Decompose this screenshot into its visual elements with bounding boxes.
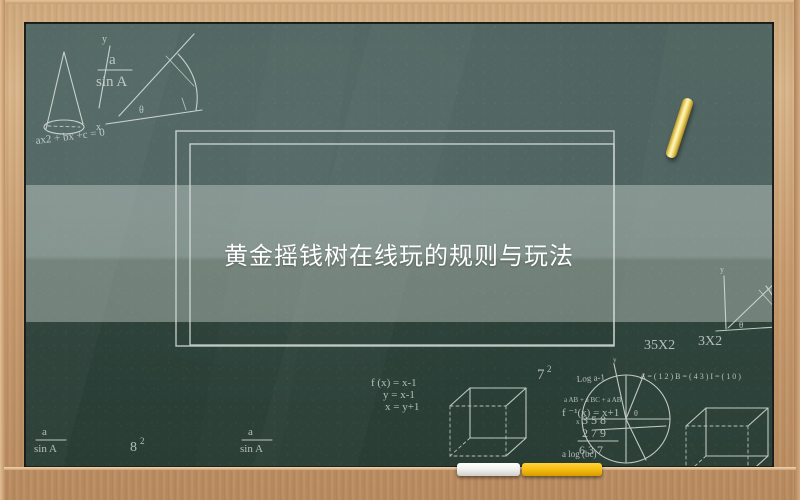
chalk-inverse-function: f ⁻¹(x) = x+1: [562, 407, 619, 419]
frame-left-edge: [0, 0, 5, 500]
chalk-circle-theta: θ: [634, 409, 638, 418]
chalk-log-bc: a log (bc): [562, 449, 596, 459]
chalk-axis-y-label-left: y: [102, 34, 107, 45]
chalk-circle-x-label: x: [576, 418, 580, 426]
chalk-mult-35x2: 35X2: [644, 338, 675, 353]
fraction-a-over-sina-bottomleft-1: a sin A: [34, 426, 66, 455]
chalk-7-exponent: 2: [547, 364, 552, 374]
chalk-tray: [0, 466, 800, 500]
chalk-fn-2: y = x-1: [383, 389, 415, 401]
yellow-chalk-icon: [522, 463, 602, 476]
white-chalk-icon: [457, 463, 520, 476]
chalk-subtrahend: 2 7 9: [582, 426, 606, 440]
function-notes-bottomleft: f (x) = x-1 y = x-1 x = y+1: [371, 377, 419, 413]
chalk-theta-left: θ: [139, 105, 144, 116]
eight-squared: 8 2: [130, 436, 145, 455]
seven-squared: 7 2: [537, 364, 552, 383]
circle-diagram: y x θ: [576, 356, 670, 463]
chalk-a-numerator: a: [109, 52, 116, 68]
chalk-sina-denominator: sin A: [96, 74, 127, 90]
chalk-fn-1: f (x) = x-1: [371, 377, 417, 389]
chalk-8: 8: [130, 440, 137, 455]
chalk-difference: 6 3 7: [579, 443, 603, 457]
fraction-a-over-sina-bottomleft-2: a sin A: [240, 426, 272, 455]
angle-diagram-topleft: y x θ: [96, 34, 202, 133]
chalk-sina-den-b2: sin A: [240, 443, 263, 455]
chalk-circle-y-label: y: [613, 356, 617, 364]
chalk-axis-x-label-left: x: [96, 122, 101, 133]
chalkboard-surface: a sin A ax2 + bx +c = 0 y x θ f (x) =: [26, 24, 772, 466]
yellow-chalk-stick-icon: [665, 97, 695, 159]
chalk-vector-expression: a AB + a BC + a AB: [564, 396, 622, 404]
chalk-a-num-b2: a: [248, 426, 253, 438]
chalk-fn-3: x = y+1: [385, 401, 419, 413]
frame-top-edge: [0, 0, 800, 4]
chalk-mult-3x2: 3X2: [698, 334, 722, 349]
chalk-matrix-expression: A = ( 1 2 ) B = ( 4 3 ) I = ( 1 0 ): [640, 372, 741, 381]
frame-right-edge: [794, 0, 800, 500]
blackboard-frame: a sin A ax2 + bx +c = 0 y x θ f (x) =: [0, 0, 800, 500]
cube-drawing-right: [686, 408, 768, 466]
chalk-7: 7: [537, 367, 545, 383]
chalk-a-num-b1: a: [42, 426, 47, 438]
chalk-minuend: 3 5 8: [582, 413, 606, 427]
fraction-a-over-sina-topleft: a sin A: [96, 52, 132, 90]
subtraction-problem: 3 5 8 2 7 9 6 3 7: [578, 413, 618, 457]
cone-drawing: [44, 52, 84, 134]
chalk-sina-den-b1: sin A: [34, 443, 57, 455]
cube-drawing-left: [450, 388, 526, 456]
chalk-log-a: Log a-1: [576, 372, 605, 384]
page-title: 黄金摇钱树在线玩的规则与玩法: [26, 185, 772, 322]
chalk-8-exponent: 2: [140, 436, 145, 446]
chalk-quadratic-equation: ax2 + bx +c = 0: [35, 127, 106, 147]
